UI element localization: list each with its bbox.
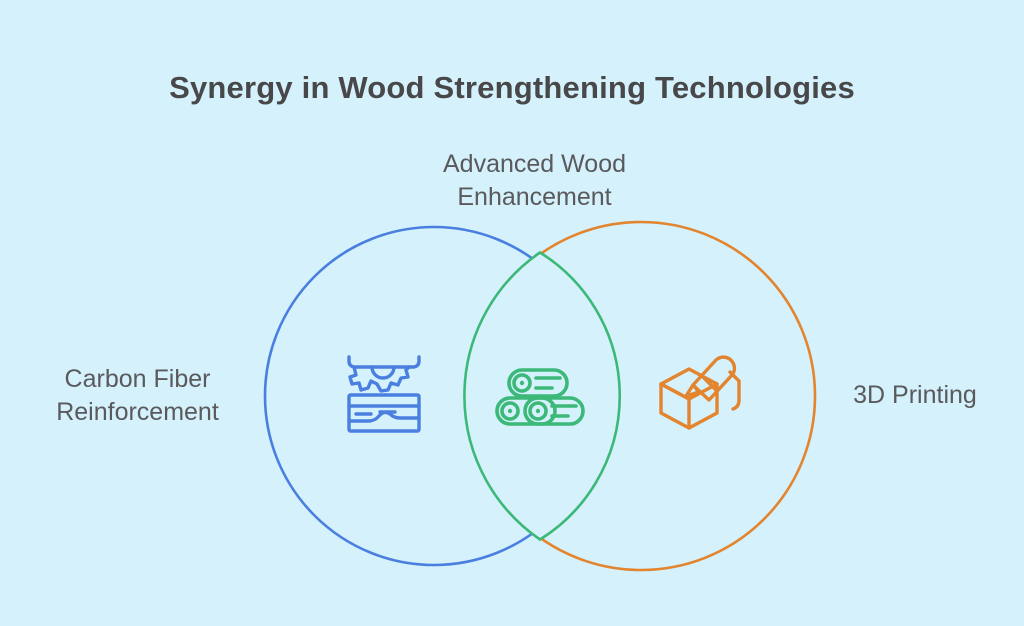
- venn-label-left: Carbon Fiber Reinforcement: [20, 363, 255, 429]
- stacked-logs-icon: [497, 370, 583, 424]
- venn-label-intersection: Advanced Wood Enhancement: [362, 148, 707, 214]
- 3d-print-pen-cube-icon: [661, 357, 739, 428]
- venn-label-right: 3D Printing: [815, 379, 1015, 412]
- wood-coating-icon: [349, 357, 419, 431]
- venn-diagram-svg: [0, 0, 1024, 626]
- diagram-canvas: Synergy in Wood Strengthening Technologi…: [0, 0, 1024, 626]
